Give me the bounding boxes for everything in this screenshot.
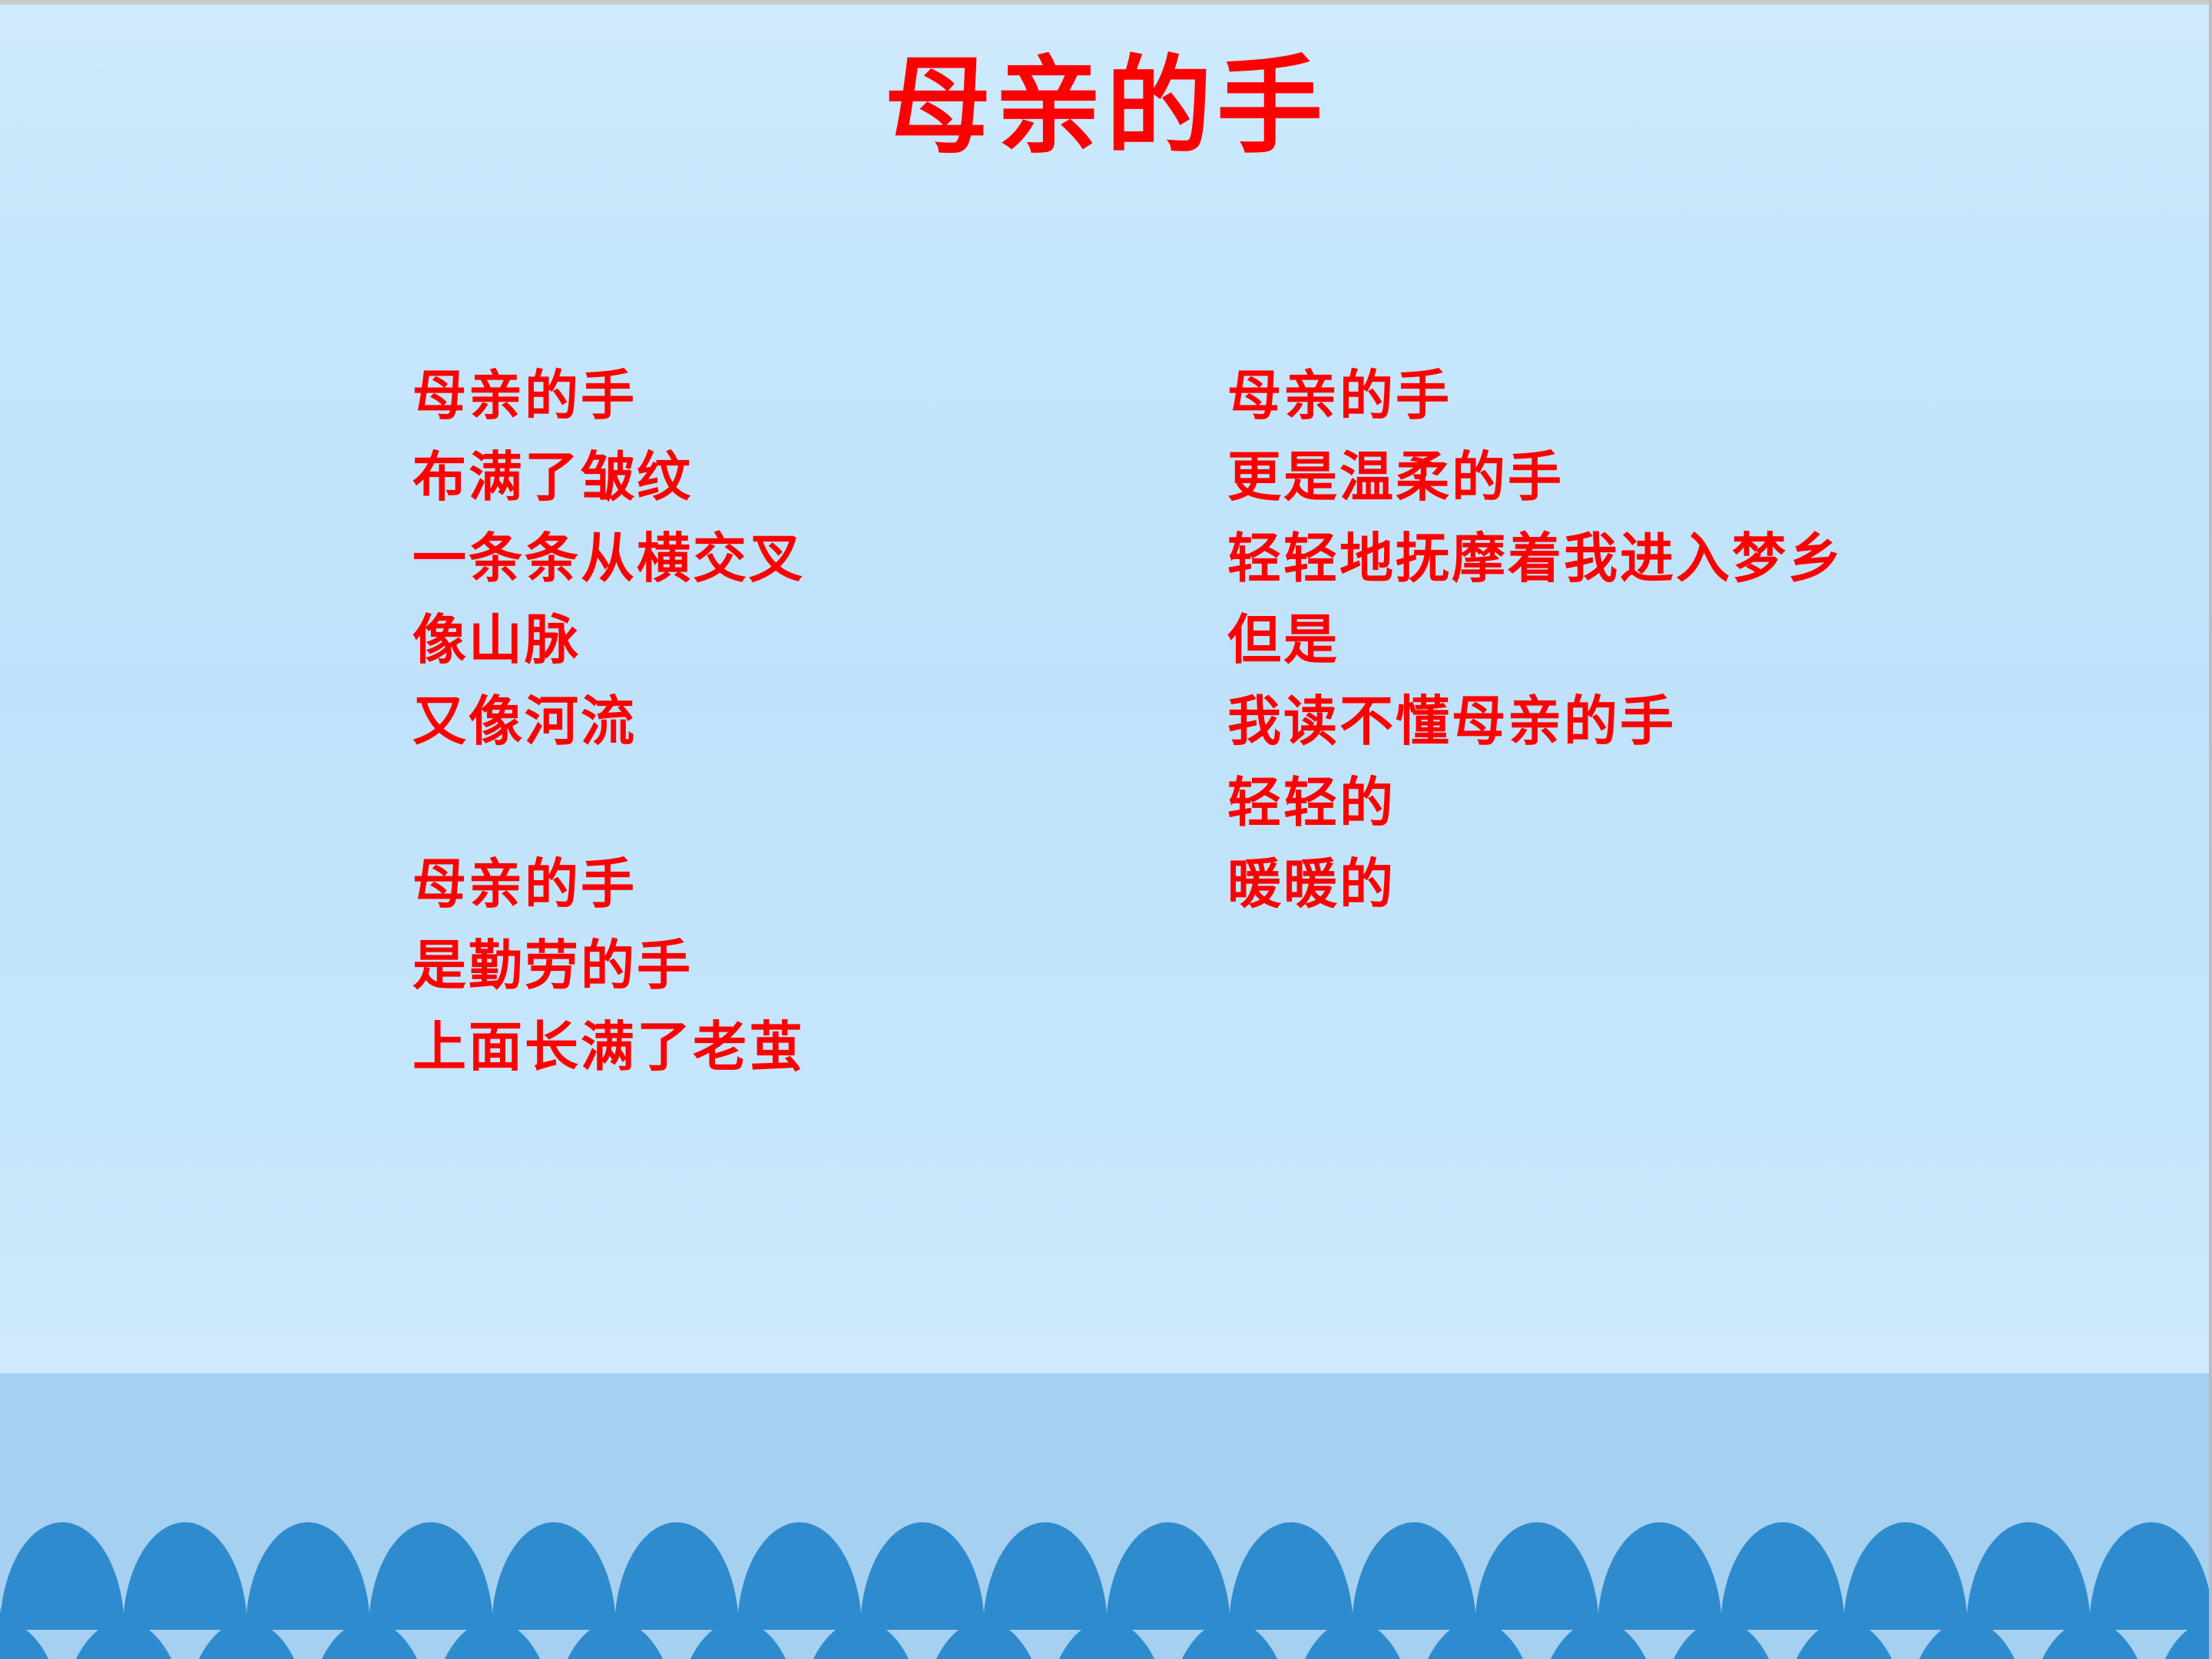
scallop-dome	[983, 1522, 1108, 1630]
scallop-dome	[1352, 1522, 1476, 1630]
page-title: 母亲的手	[0, 40, 2212, 173]
scallop-dome	[0, 1621, 63, 1659]
scallop-dome	[1413, 1621, 1538, 1659]
scallop-dome	[492, 1522, 616, 1630]
scallop-dome	[922, 1621, 1046, 1659]
poem-line: 我读不懂母亲的手	[1227, 680, 1844, 762]
slide-canvas: 母亲的手 母亲的手布满了皱纹一条条从横交叉像山脉又像河流 母亲的手是勤劳的手上面…	[0, 0, 2212, 1659]
poem-left-column: 母亲的手布满了皱纹一条条从横交叉像山脉又像河流 母亲的手是勤劳的手上面长满了老茧	[412, 355, 805, 1088]
scallop-dome	[1229, 1522, 1353, 1630]
scallop-dome	[1720, 1522, 1845, 1630]
window-top-edge	[0, 0, 2212, 5]
poem-line: 暖暖的	[1227, 843, 1844, 925]
scallop-dome	[1106, 1522, 1230, 1630]
scallop-dome	[307, 1621, 432, 1659]
scallop-dome	[61, 1621, 186, 1659]
scallop-dome	[614, 1522, 739, 1630]
scallop-row-bottom	[0, 1621, 2212, 1659]
poem-line: 更是温柔的手	[1227, 436, 1844, 518]
scallop-dome	[1167, 1621, 1292, 1659]
scallop-dome	[2089, 1522, 2212, 1630]
scallop-dome	[676, 1621, 800, 1659]
scallop-dome	[737, 1522, 862, 1630]
poem-line: 母亲的手	[412, 355, 805, 436]
scallop-dome	[1782, 1621, 1906, 1659]
scallop-dome	[1905, 1621, 2029, 1659]
scallop-dome	[1659, 1621, 1783, 1659]
scallop-dome	[553, 1621, 677, 1659]
poem-line: 是勤劳的手	[412, 925, 805, 1006]
scallop-dome	[1290, 1621, 1415, 1659]
scallop-dome	[1843, 1522, 1968, 1630]
poem-line: 又像河流	[412, 680, 805, 762]
poem-line: 上面长满了老茧	[412, 1006, 805, 1088]
poem-line: 像山脉	[412, 599, 805, 680]
scallop-row-top	[0, 1522, 2212, 1630]
poem-line: 母亲的手	[1227, 355, 1844, 436]
slide-background-water-band	[0, 1373, 2212, 1659]
scallop-dome	[430, 1621, 555, 1659]
scallop-dome	[0, 1522, 124, 1630]
scallop-dome	[246, 1522, 370, 1630]
poem-line: 轻轻地抚摩着我进入梦乡	[1227, 518, 1844, 599]
scallop-dome	[2028, 1621, 2152, 1659]
poem-line: 轻轻的	[1227, 762, 1844, 843]
poem-line: 一条条从横交叉	[412, 518, 805, 599]
scallop-dome	[2151, 1621, 2212, 1659]
slide-background-upper	[0, 5, 2212, 1373]
window-right-edge	[2209, 0, 2212, 1659]
poem-line: 布满了皱纹	[412, 436, 805, 518]
scallop-dome	[184, 1621, 309, 1659]
poem-line: 母亲的手	[412, 843, 805, 925]
scallop-dome	[799, 1621, 923, 1659]
scallop-dome	[369, 1522, 493, 1630]
scallop-dome	[1966, 1522, 2091, 1630]
scallop-dome	[1536, 1621, 1661, 1659]
scallop-dome	[860, 1522, 985, 1630]
poem-right-column: 母亲的手更是温柔的手轻轻地抚摩着我进入梦乡但是我读不懂母亲的手轻轻的暖暖的	[1227, 355, 1844, 925]
scallop-dome	[1045, 1621, 1169, 1659]
scallop-dome	[1598, 1522, 1722, 1630]
poem-line: 但是	[1227, 599, 1844, 680]
scallop-dome	[123, 1522, 247, 1630]
scallop-dome	[1475, 1522, 1599, 1630]
